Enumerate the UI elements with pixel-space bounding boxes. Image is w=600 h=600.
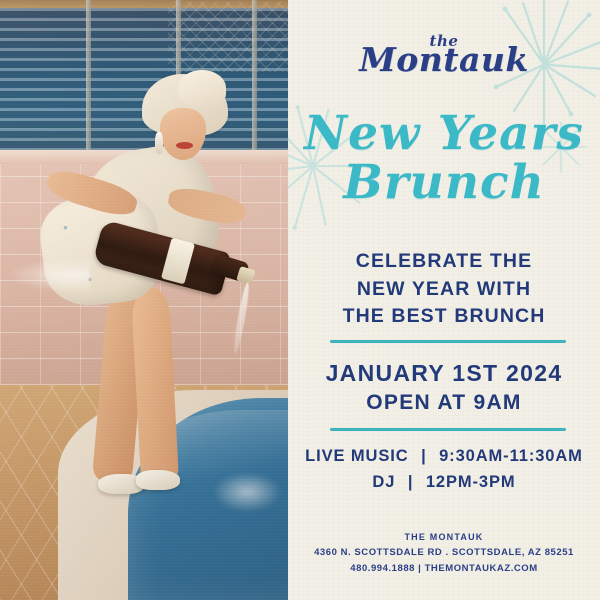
figure-hair-top bbox=[178, 70, 226, 106]
fence-post bbox=[86, 0, 91, 150]
schedule-separator: | bbox=[401, 473, 421, 491]
figure-earring bbox=[155, 132, 163, 154]
event-date: JANUARY 1ST 2024 bbox=[288, 358, 600, 389]
event-date-block: JANUARY 1ST 2024 OPEN AT 9AM bbox=[288, 358, 600, 418]
info-panel: the Montauk New Years Brunch CELEBRATE T… bbox=[288, 0, 600, 600]
schedule-row: DJ | 12PM-3PM bbox=[288, 470, 600, 496]
fence-post bbox=[252, 0, 257, 150]
subtitle-line-1: CELEBRATE THE bbox=[288, 248, 600, 276]
schedule-separator: | bbox=[414, 447, 434, 465]
photo-blue-fence bbox=[0, 8, 288, 158]
schedule-time: 9:30AM-11:30AM bbox=[439, 447, 583, 465]
logo-name-text: Montauk bbox=[288, 43, 600, 78]
divider-top bbox=[330, 340, 566, 343]
event-open-time: OPEN AT 9AM bbox=[288, 389, 600, 418]
brand-logo[interactable]: the Montauk bbox=[288, 34, 600, 78]
footer-address: 4360 N. SCOTTSDALE RD . SCOTTSDALE, AZ 8… bbox=[288, 545, 600, 561]
subtitle-line-3: THE BEST BRUNCH bbox=[288, 303, 600, 331]
headline-line-2: Brunch bbox=[288, 161, 600, 206]
event-subtitle: CELEBRATE THE NEW YEAR WITH THE BEST BRU… bbox=[288, 248, 600, 331]
venue-footer: THE MONTAUK 4360 N. SCOTTSDALE RD . SCOT… bbox=[288, 530, 600, 576]
headline-line-1: New Years bbox=[288, 112, 600, 157]
schedule-label: DJ bbox=[372, 473, 395, 491]
event-headline: New Years Brunch bbox=[288, 112, 600, 205]
champagne-spray bbox=[6, 258, 90, 292]
footer-venue-name: THE MONTAUK bbox=[288, 530, 600, 545]
subtitle-line-2: NEW YEAR WITH bbox=[288, 276, 600, 304]
figure-shoe bbox=[136, 470, 180, 490]
footer-contact[interactable]: 480.994.1888 | THEMONTAUKAZ.COM bbox=[288, 561, 600, 577]
flyer-canvas: the Montauk New Years Brunch CELEBRATE T… bbox=[0, 0, 600, 600]
schedule-label: LIVE MUSIC bbox=[305, 447, 408, 465]
promo-photo bbox=[0, 0, 288, 600]
champagne-splash bbox=[212, 472, 282, 512]
figure-lips bbox=[176, 142, 193, 149]
divider-bottom bbox=[330, 428, 566, 431]
schedule-time: 12PM-3PM bbox=[426, 473, 516, 491]
entertainment-schedule: LIVE MUSIC | 9:30AM-11:30AM DJ | 12PM-3P… bbox=[288, 444, 600, 495]
schedule-row: LIVE MUSIC | 9:30AM-11:30AM bbox=[288, 444, 600, 470]
